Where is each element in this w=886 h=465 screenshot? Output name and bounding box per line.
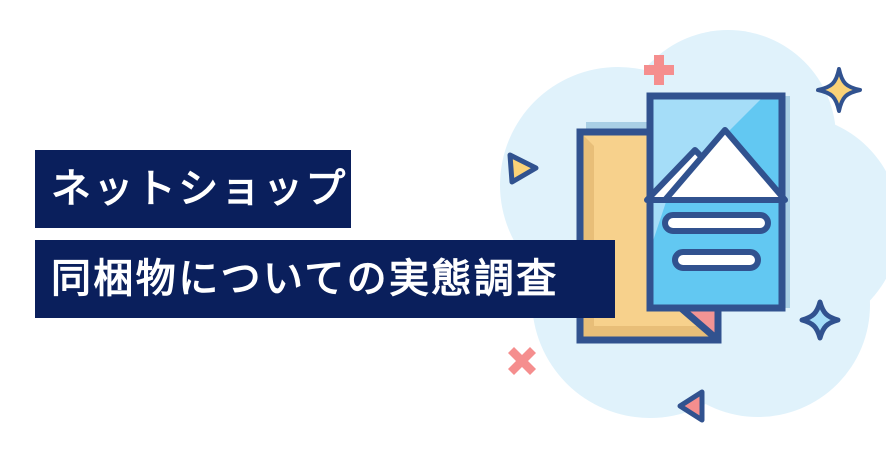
front-card-blue xyxy=(630,78,785,310)
title-banner-line2-text: 同梱物についての実態調査 xyxy=(51,259,559,299)
title-banner-line2: 同梱物についての実態調査 xyxy=(35,240,615,318)
documents-survey-illustration xyxy=(490,10,886,460)
poster-canvas: ネットショップ 同梱物についての実態調査 xyxy=(0,0,886,465)
text-bar-long xyxy=(665,215,768,231)
title-banner-line1-text: ネットショップ xyxy=(51,169,348,209)
text-bar-short xyxy=(675,252,758,268)
cross-x-icon xyxy=(508,347,536,375)
title-banner-line1: ネットショップ xyxy=(35,150,351,228)
